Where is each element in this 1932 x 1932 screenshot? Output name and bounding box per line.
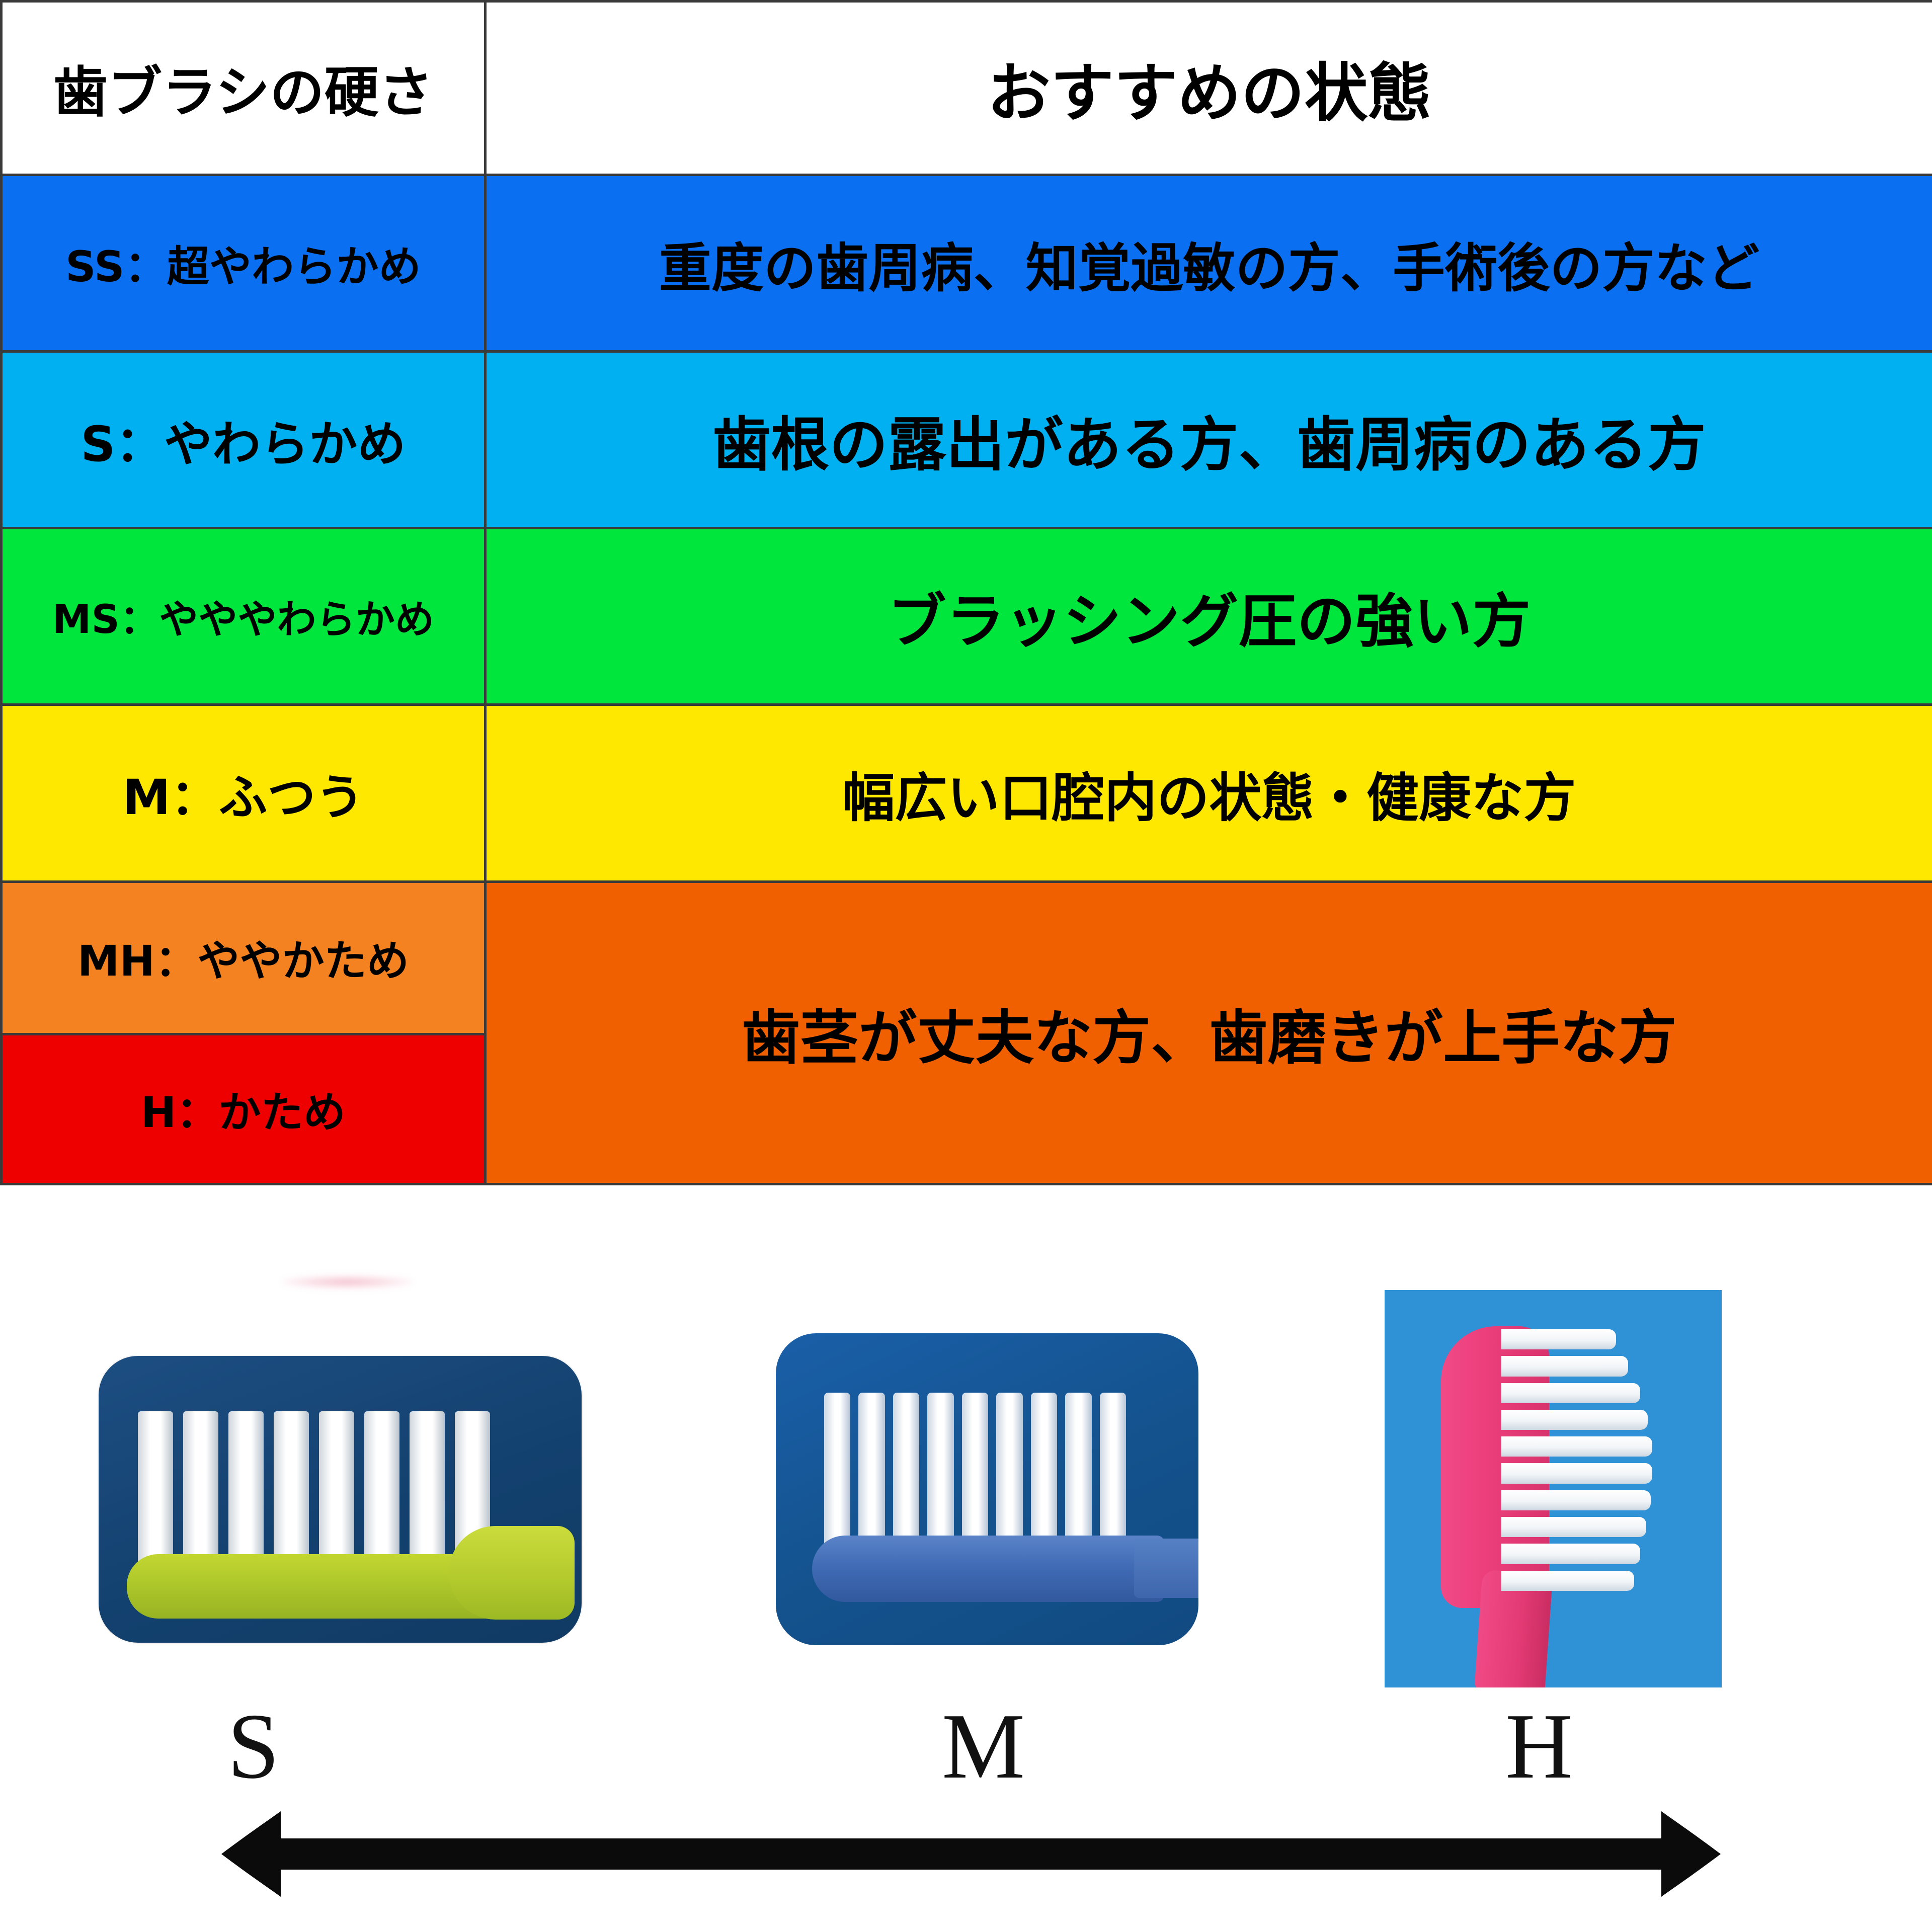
hardness-label-h: H：かため — [141, 1088, 346, 1137]
table-header-row: 歯ブラシの硬さ おすすめの状態 — [2, 2, 1932, 175]
hardness-label-ms: MS：やややわらかめ — [52, 597, 434, 642]
toothbrush-hardness-table: 歯ブラシの硬さ おすすめの状態 SS：超やわらかめ 重度の歯周病、知覚過敏の方、… — [0, 0, 1932, 1185]
hardness-level-ss: SS：超やわらかめ — [2, 175, 486, 351]
scale-label-s: S — [227, 1700, 279, 1793]
header-cell-hardness: 歯ブラシの硬さ — [2, 2, 486, 175]
recommendation-ss: 重度の歯周病、知覚過敏の方、手術後の方など — [486, 175, 1932, 351]
hardness-level-h: H：かため — [2, 1034, 486, 1184]
hard-toothbrush-photo — [1385, 1290, 1722, 1687]
scale-label-m: M — [942, 1700, 1025, 1793]
recommendation-label-m: 幅広い口腔内の状態・健康な方 — [842, 767, 1576, 829]
hardness-direction-arrow — [221, 1811, 1721, 1897]
hardness-label-m: M：ふつう — [122, 769, 364, 826]
hardness-level-m: M：ふつう — [2, 705, 486, 881]
hardness-level-ms: MS：やややわらかめ — [2, 528, 486, 705]
recommendation-label-mh-h: 歯茎が丈夫な方、歯磨きが上手な方 — [742, 1004, 1677, 1072]
table-row: MS：やややわらかめ ブラッシング圧の強い方 — [2, 528, 1932, 705]
table-row: MH：ややかため 歯茎が丈夫な方、歯磨きが上手な方 — [2, 881, 1932, 1034]
header-label-hardness: 歯ブラシの硬さ — [53, 61, 433, 124]
double-headed-arrow-icon — [221, 1811, 1721, 1897]
recommendation-m: 幅広い口腔内の状態・健康な方 — [486, 705, 1932, 881]
recommendation-label-s: 歯根の露出がある方、歯周病のある方 — [712, 411, 1706, 479]
recommendation-mh-h-merged: 歯茎が丈夫な方、歯磨きが上手な方 — [486, 881, 1932, 1184]
handle-soft — [127, 1554, 570, 1619]
medium-toothbrush-photo — [776, 1333, 1198, 1645]
recommendation-ms: ブラッシング圧の強い方 — [486, 528, 1932, 705]
table-row: M：ふつう 幅広い口腔内の状態・健康な方 — [2, 705, 1932, 881]
hardness-label-mh: MH：ややかため — [77, 936, 409, 986]
hardness-label-s: S：やわらかめ — [80, 416, 406, 472]
bristles-group-soft — [138, 1411, 490, 1562]
pink-smudge-artifact — [282, 1275, 413, 1289]
recommendation-s: 歯根の露出がある方、歯周病のある方 — [486, 352, 1932, 528]
recommendation-label-ss: 重度の歯周病、知覚過敏の方、手術後の方など — [659, 237, 1759, 299]
hardness-level-mh: MH：ややかため — [2, 881, 486, 1034]
hardness-level-s: S：やわらかめ — [2, 352, 486, 528]
header-label-recommended: おすすめの状態 — [987, 56, 1431, 130]
hardness-label-ss: SS：超やわらかめ — [65, 242, 421, 291]
header-cell-recommended: おすすめの状態 — [486, 2, 1932, 175]
table-row: SS：超やわらかめ 重度の歯周病、知覚過敏の方、手術後の方など — [2, 175, 1932, 351]
soft-toothbrush-photo — [99, 1356, 582, 1643]
bristles-group-medium — [824, 1393, 1126, 1544]
recommendation-label-ms: ブラッシング圧の強い方 — [888, 588, 1531, 656]
bristles-group-hard — [1501, 1329, 1652, 1591]
handle-medium — [812, 1536, 1164, 1602]
table-row: S：やわらかめ 歯根の露出がある方、歯周病のある方 — [2, 352, 1932, 528]
scale-label-h: H — [1505, 1700, 1573, 1793]
